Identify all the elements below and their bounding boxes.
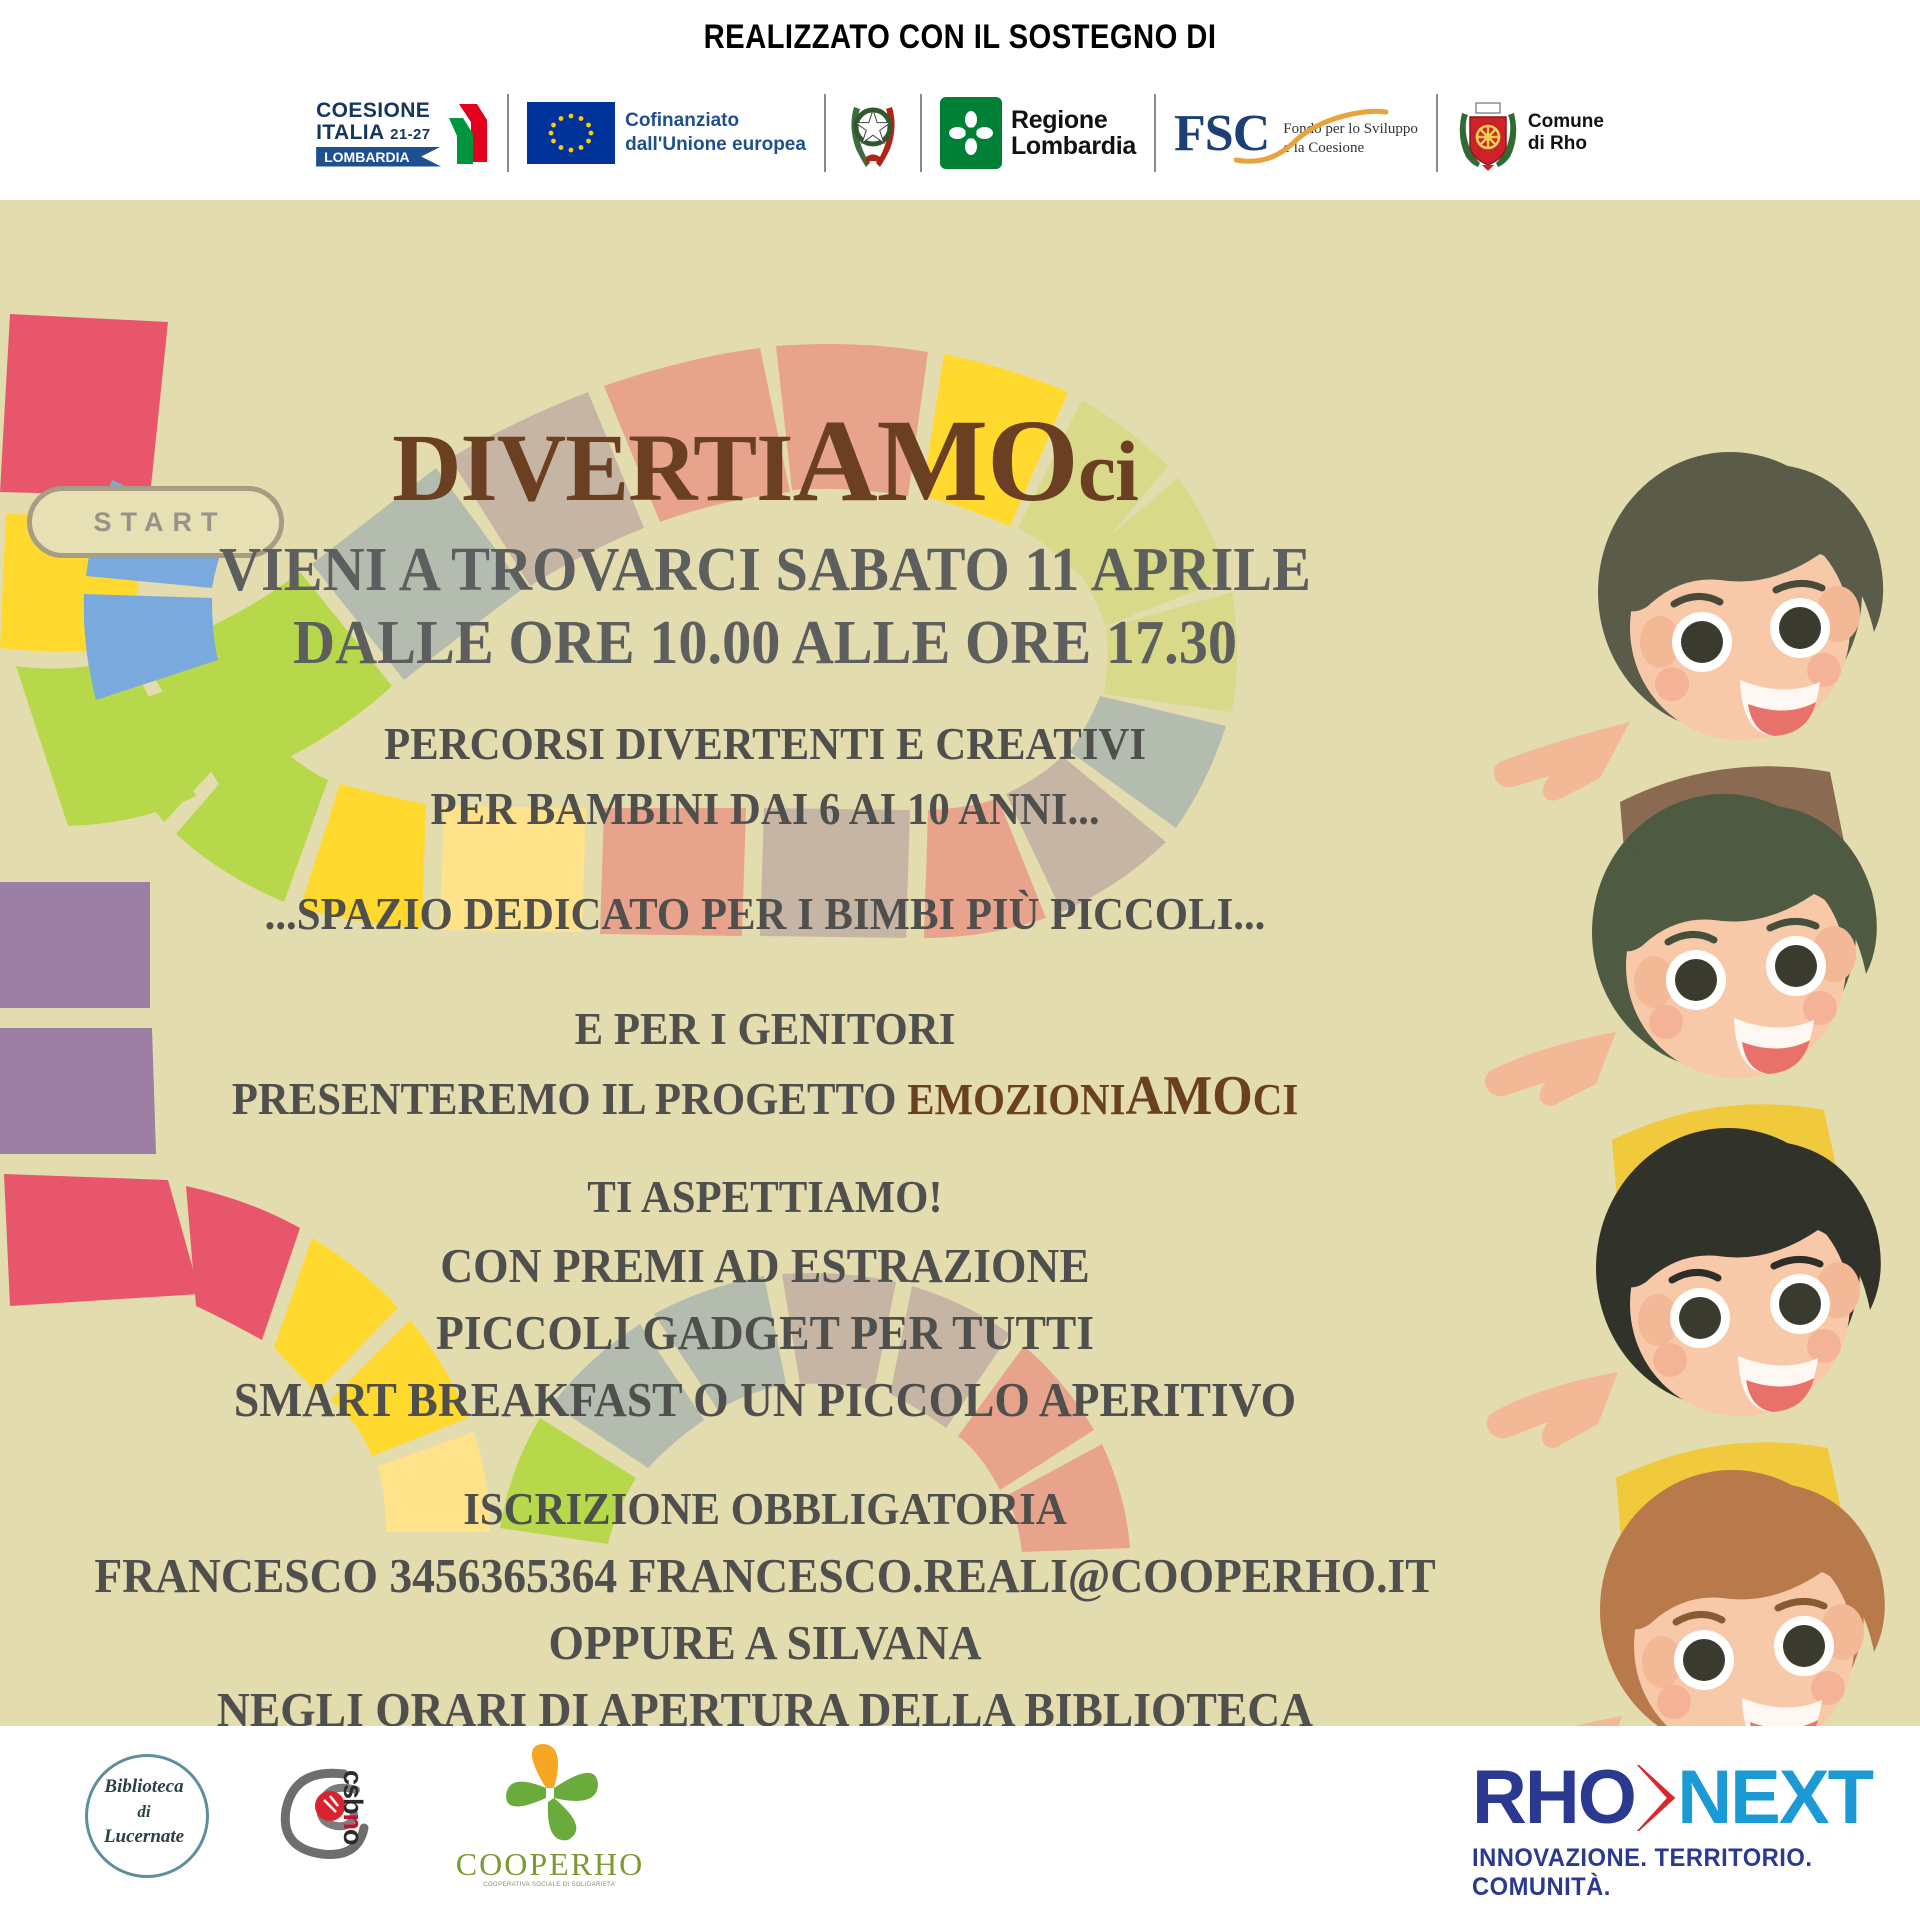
biblioteca-line3: Lucernate — [85, 1826, 203, 1848]
csbno-highlight: n — [338, 1814, 368, 1830]
rho-coat-of-arms-icon — [1456, 95, 1520, 171]
coesione-line1: COESIONE — [316, 100, 441, 121]
logo-comune-di-rho: Comune di Rho — [1438, 83, 1622, 183]
logo-regione-lombardia: Regione Lombardia — [922, 83, 1154, 183]
rhonext-part2: NEXT — [1677, 1760, 1872, 1836]
eu-line2: dall'Unione europea — [625, 133, 806, 157]
logo-cooperho: COOPERHO COOPERATIVA SOCIALE DI SOLIDARI… — [455, 1742, 645, 1907]
fsc-line2: e la Coesione — [1283, 139, 1418, 159]
board-tile-salmon-1 — [604, 348, 790, 522]
poster-body: START — [0, 196, 1920, 1726]
board-tile-purple-1 — [0, 882, 150, 1008]
eu-line1: Cofinanziato — [625, 109, 806, 133]
regione-line2: Lombardia — [1011, 133, 1136, 159]
rho-line2: di Rho — [1528, 133, 1604, 155]
rhonext-tagline: INNOVAZIONE. TERRITORIO. COMUNITÀ. — [1472, 1844, 1852, 1902]
poster-root: REALIZZATO CON IL SOSTEGNO DI COESIONE I… — [0, 0, 1920, 1920]
board-tile-salmon-4 — [600, 808, 746, 936]
sponsor-logo-strip: COESIONE ITALIA 21-27 LOMBARDIA — [0, 78, 1920, 188]
fsc-acronym: FSC — [1174, 104, 1269, 163]
csbno-suffix: o — [338, 1829, 368, 1845]
support-title: REALIZZATO CON IL SOSTEGNO DI — [134, 18, 1785, 57]
cooperho-subtitle: COOPERATIVA SOCIALE DI SOLIDARIETA' — [455, 1882, 645, 1888]
board-tile-yellow-3 — [440, 806, 586, 932]
board-tile-purple-2 — [0, 1028, 156, 1154]
start-label: START — [85, 507, 227, 538]
children-illustration — [1300, 392, 1920, 1726]
coesione-line2: ITALIA — [316, 121, 384, 144]
biblioteca-line2: di — [85, 1802, 203, 1822]
coesione-years: 21-27 — [390, 126, 430, 143]
coesione-arrow-icon — [447, 102, 489, 164]
partner-footer: Biblioteca di Lucernate csbno — [0, 1726, 1920, 1920]
eu-flag-icon — [527, 102, 615, 164]
board-tile-red-3 — [186, 1186, 300, 1340]
logo-fsc: FSC Fondo per lo Sviluppo e la Coesione — [1156, 83, 1436, 183]
repubblica-emblem-icon — [844, 97, 902, 169]
rho-line1: Comune — [1528, 111, 1604, 133]
logo-biblioteca-lucernate: Biblioteca di Lucernate — [85, 1754, 215, 1884]
coesione-region: LOMBARDIA — [316, 147, 441, 167]
board-tile-yellow-4 — [300, 784, 426, 928]
lombardia-rose-icon — [940, 97, 1002, 169]
start-button[interactable]: START — [27, 486, 284, 558]
logo-repubblica-italiana — [826, 83, 920, 183]
csbno-prefix: csb — [338, 1770, 368, 1814]
biblioteca-line1: Biblioteca — [85, 1776, 203, 1798]
csbno-wordmark: csbno — [337, 1770, 368, 1845]
board-tile-yellow-7 — [378, 1432, 490, 1532]
logo-rho-next: RHO NEXT INNOVAZIONE. TERRITORIO. COMUNI… — [1472, 1760, 1872, 1890]
logo-csbno: csbno — [272, 1752, 422, 1892]
fsc-line1: Fondo per lo Sviluppo — [1283, 120, 1418, 140]
chevron-right-icon — [1637, 1765, 1675, 1831]
board-tile-tan-3 — [760, 808, 910, 938]
regione-line1: Regione — [1011, 107, 1136, 133]
board-tile-red-2 — [4, 1174, 200, 1306]
sponsor-header: REALIZZATO CON IL SOSTEGNO DI COESIONE I… — [0, 0, 1920, 200]
cooperho-name: COOPERHO — [455, 1846, 645, 1883]
board-tile-salmon-2 — [776, 344, 928, 496]
board-tile-tan-4 — [782, 1273, 896, 1390]
rhonext-part1: RHO — [1472, 1760, 1635, 1836]
logo-unione-europea: Cofinanziato dall'Unione europea — [509, 83, 824, 183]
cooperho-clover-icon — [455, 1742, 645, 1842]
child-4 — [1491, 1470, 1885, 1726]
logo-coesione-italia: COESIONE ITALIA 21-27 LOMBARDIA — [298, 83, 507, 183]
board-tile-red-1 — [0, 314, 168, 496]
